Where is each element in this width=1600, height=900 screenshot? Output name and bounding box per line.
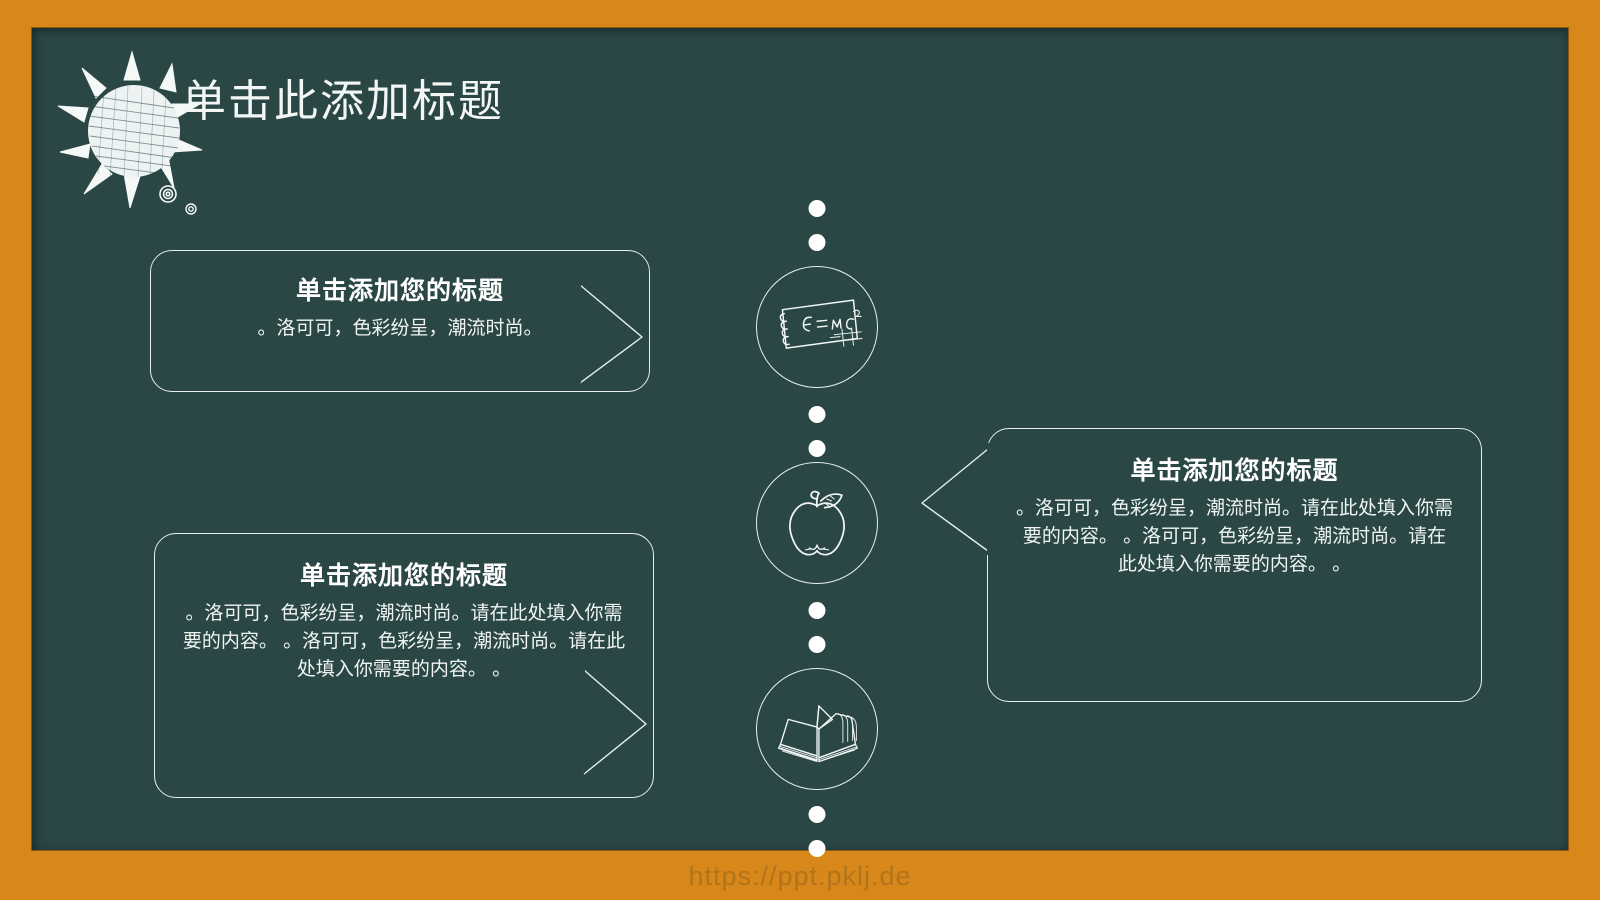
timeline-node-notepad[interactable] <box>756 266 878 388</box>
callout-bubble-3-content: 单击添加您的标题 。洛可可，色彩纷呈，潮流时尚。请在此处填入你需要的内容。 。洛… <box>155 534 653 684</box>
page-title-text: 单击此添加标题 <box>182 78 504 126</box>
timeline-node-book[interactable] <box>756 668 878 790</box>
callout-bubble-3[interactable]: 单击添加您的标题 。洛可可，色彩纷呈，潮流时尚。请在此处填入你需要的内容。 。洛… <box>154 533 654 798</box>
open-book-icon <box>769 681 865 777</box>
callout-bubble-3-title: 单击添加您的标题 <box>181 556 627 592</box>
page-title: 单击此添加标题 <box>182 78 504 126</box>
timeline-dot <box>808 234 825 251</box>
chalk-dot-small-icon <box>186 204 196 214</box>
vertical-timeline <box>754 178 879 868</box>
timeline-dot <box>808 602 825 619</box>
timeline-node-apple[interactable] <box>756 462 878 584</box>
callout-bubble-2-tail <box>916 441 990 557</box>
callout-bubble-2-title: 单击添加您的标题 <box>1014 451 1455 487</box>
timeline-dot <box>808 200 825 217</box>
timeline-dot <box>808 636 825 653</box>
callout-bubble-2[interactable]: 单击添加您的标题 。洛可可，色彩纷呈，潮流时尚。请在此处填入你需要的内容。 。洛… <box>987 428 1482 702</box>
callout-bubble-1-content: 单击添加您的标题 。洛可可，色彩纷呈，潮流时尚。 <box>151 251 649 343</box>
notepad-equation-icon <box>769 279 865 375</box>
callout-bubble-2-content: 单击添加您的标题 。洛可可，色彩纷呈，潮流时尚。请在此处填入你需要的内容。 。洛… <box>988 429 1481 579</box>
callout-bubble-3-body: 。洛可可，色彩纷呈，潮流时尚。请在此处填入你需要的内容。 。洛可可，色彩纷呈，潮… <box>181 600 627 684</box>
timeline-dot <box>808 840 825 857</box>
callout-bubble-1[interactable]: 单击添加您的标题 。洛可可，色彩纷呈，潮流时尚。 <box>150 250 650 392</box>
chalkboard-surface: 单击此添加标题 <box>32 28 1568 850</box>
slide-canvas: 单击此添加标题 <box>0 0 1600 900</box>
callout-bubble-1-title: 单击添加您的标题 <box>177 271 623 307</box>
callout-bubble-1-body: 。洛可可，色彩纷呈，潮流时尚。 <box>177 315 623 343</box>
chalk-dot-icon <box>160 186 176 202</box>
timeline-dot <box>808 806 825 823</box>
chalk-sun-icon <box>54 46 214 216</box>
timeline-dot <box>808 440 825 457</box>
callout-bubble-2-body: 。洛可可，色彩纷呈，潮流时尚。请在此处填入你需要的内容。 。洛可可，色彩纷呈，潮… <box>1014 495 1455 579</box>
apple-icon <box>769 475 865 571</box>
timeline-dot <box>808 406 825 423</box>
